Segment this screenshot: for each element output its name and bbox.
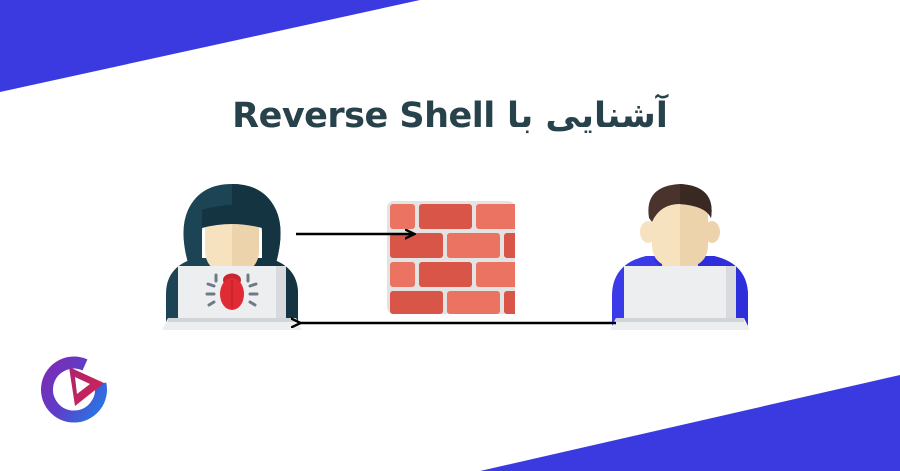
attacker-laptop-hinge [168, 318, 296, 322]
brick [447, 233, 500, 258]
victim-laptop-screen [624, 266, 736, 318]
firewall-brick-wall [387, 198, 575, 318]
victim-laptop-hinge [616, 318, 744, 322]
brick [447, 291, 500, 314]
poster-canvas: آشنایی با Reverse Shell [0, 0, 900, 471]
brick [390, 233, 443, 258]
reverse-shell-diagram [0, 0, 900, 471]
play-circle-logo[interactable] [34, 352, 116, 434]
brick [390, 262, 415, 287]
brick [419, 262, 472, 287]
brick [390, 291, 443, 314]
attacker-hacker-figure [162, 184, 302, 330]
victim-user-figure [610, 184, 750, 330]
victim-laptop-screen-edge [726, 266, 736, 318]
brick [419, 204, 472, 229]
attacker-laptop-screen-edge [276, 266, 286, 318]
brick [390, 204, 415, 229]
